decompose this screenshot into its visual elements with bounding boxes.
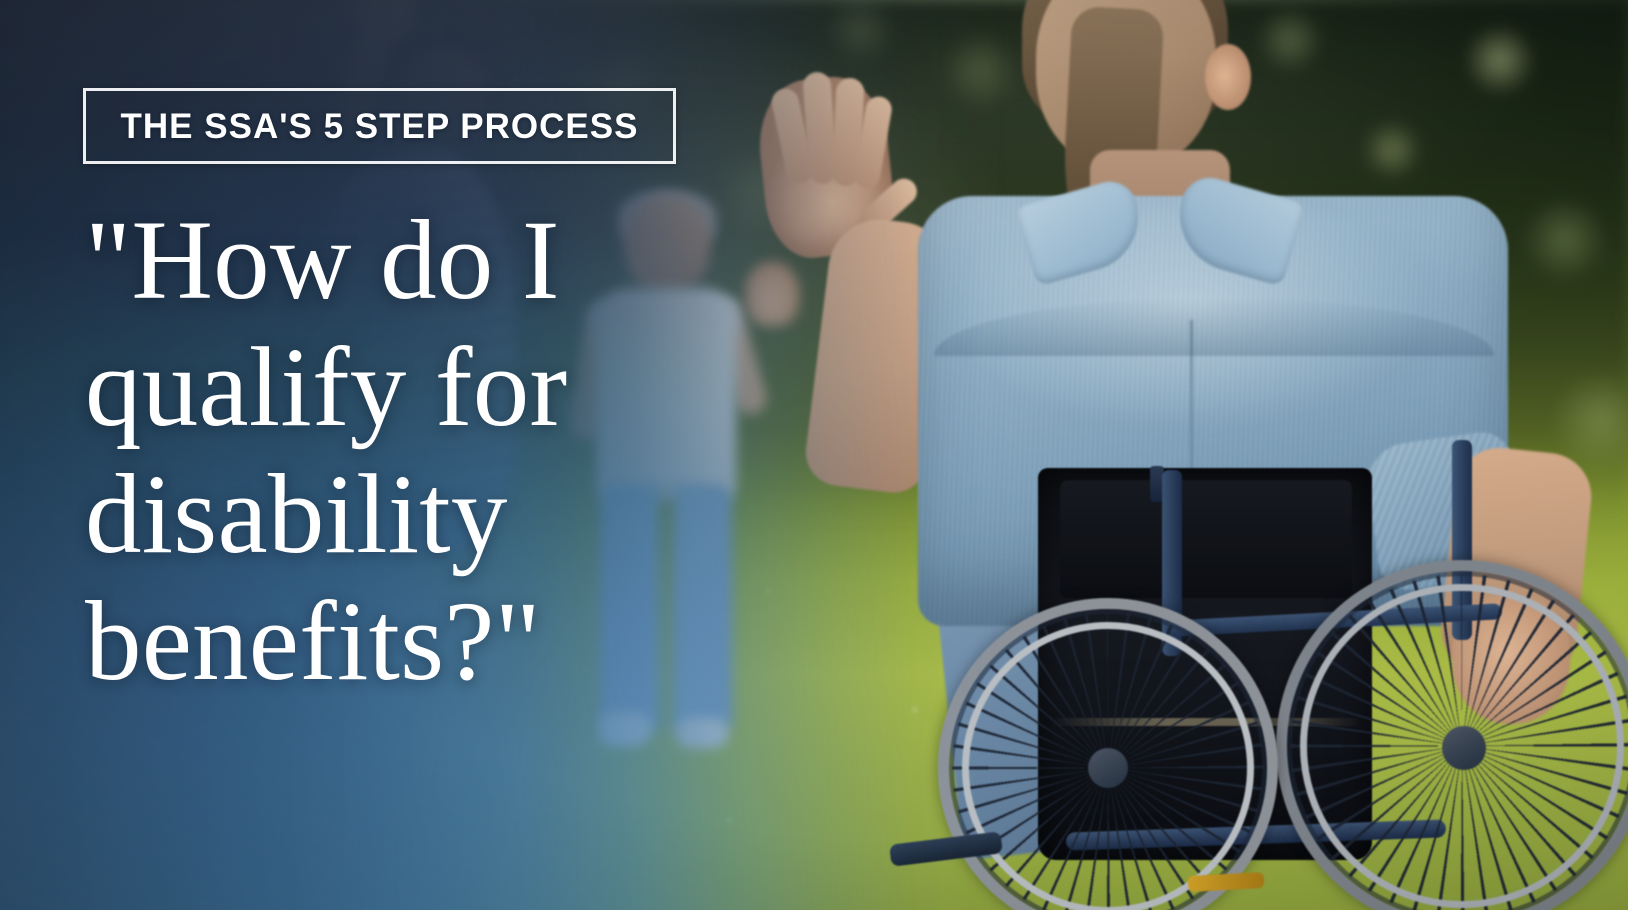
headline-line-1: "How do I — [85, 197, 725, 324]
page-title: "How do I qualify for disability benefit… — [85, 197, 725, 705]
headline-line-4: benefits?" — [85, 578, 725, 705]
headline-line-3: disability — [85, 451, 725, 578]
headline-line-2: qualify for — [85, 324, 725, 451]
eyebrow-label: THE SSA'S 5 STEP PROCESS — [121, 109, 639, 144]
text-content: THE SSA'S 5 STEP PROCESS "How do I quali… — [0, 0, 1628, 910]
hero-banner: THE SSA'S 5 STEP PROCESS "How do I quali… — [0, 0, 1628, 910]
eyebrow-badge: THE SSA'S 5 STEP PROCESS — [83, 88, 676, 164]
